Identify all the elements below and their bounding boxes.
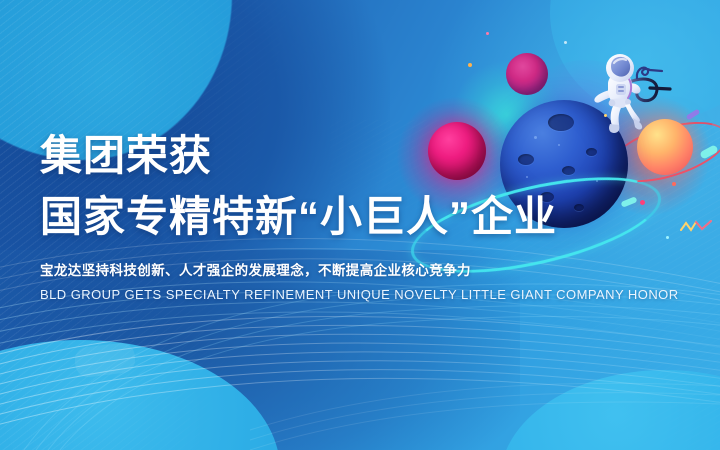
confetti-dot bbox=[468, 63, 472, 67]
promotional-banner: 集团荣获 国家专精特新“小巨人”企业 宝龙达坚持科技创新、人才强企的发展理念，不… bbox=[0, 0, 720, 450]
confetti-dot bbox=[604, 114, 607, 117]
page-title-line-1: 集团荣获 bbox=[40, 134, 660, 179]
confetti-dot bbox=[486, 32, 489, 35]
banner-text-block: 集团荣获 国家专精特新“小巨人”企业 宝龙达坚持科技创新、人才强企的发展理念，不… bbox=[40, 134, 660, 302]
subtitle-english: BLD GROUP GETS SPECIALTY REFINEMENT UNIQ… bbox=[40, 287, 660, 302]
confetti-dot bbox=[666, 236, 669, 239]
confetti-ribbon bbox=[680, 218, 714, 236]
page-title-line-2: 国家专精特新“小巨人”企业 bbox=[40, 195, 660, 240]
planet-icon bbox=[506, 53, 548, 95]
confetti-ribbon bbox=[634, 60, 664, 82]
subtitle-chinese: 宝龙达坚持科技创新、人才强企的发展理念，不断提高企业核心竞争力 bbox=[40, 259, 660, 279]
confetti-dot bbox=[564, 41, 567, 44]
confetti-dot bbox=[672, 182, 676, 186]
